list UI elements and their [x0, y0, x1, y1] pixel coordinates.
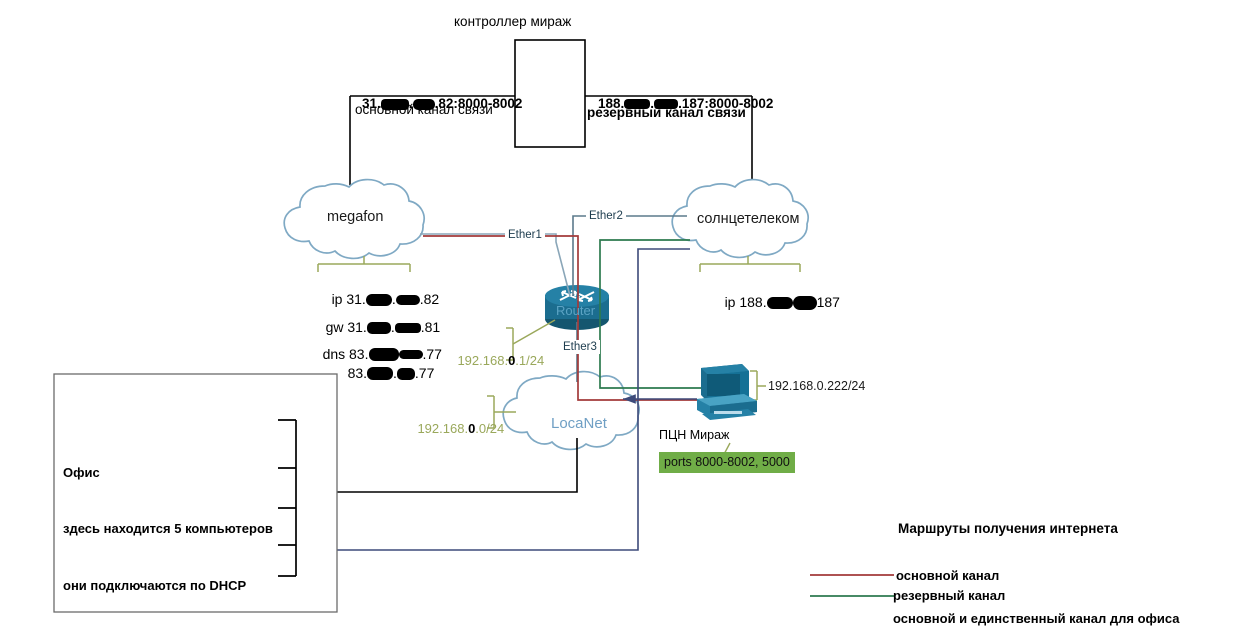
- office-line-2: здесь находится 5 компьютеров: [63, 520, 273, 539]
- router-lan-ip: 192.168.0.1/24: [443, 337, 544, 386]
- legend-swatches: [810, 565, 900, 615]
- legend-item-primary: основной канал: [896, 568, 999, 584]
- router-label: Router: [556, 303, 595, 319]
- backup-channel-label: резервный канал связи: [587, 105, 746, 122]
- megafon-dns2-line: 83...77: [332, 347, 434, 400]
- locanet-subnet-prefix: 192.168.: [417, 421, 468, 436]
- cloud-label-megafon: megafon: [327, 208, 383, 226]
- primary-channel-label: основной канал связи: [355, 102, 493, 119]
- locanet-subnet: 192.168.0.0/24: [403, 405, 504, 454]
- ether3-label: Ether3: [560, 340, 600, 354]
- office-line-1: Офис: [63, 464, 273, 483]
- router-lan-ip-suffix: .1/24: [515, 353, 544, 368]
- backup-route-green: [600, 240, 725, 388]
- ether1-link: [420, 234, 570, 296]
- ether1-label: Ether1: [505, 228, 545, 242]
- ether2-link: [573, 216, 687, 296]
- solncetelecom-detail-bracket: [700, 256, 800, 272]
- cloud-label-solncetelecom: солнцетелеком: [697, 210, 799, 228]
- controller-box: [515, 40, 585, 147]
- legend-item-office: основной и единственный канал для офиса: [893, 611, 1180, 627]
- router-lan-ip-prefix: 192.168.: [457, 353, 508, 368]
- office-line-3: они подключаются по DHCP: [63, 577, 273, 596]
- workstation-ip-bracket: [750, 371, 766, 400]
- locanet-subnet-suffix: .0/24: [475, 421, 504, 436]
- redaction-blob: [367, 367, 393, 380]
- workstation-name: ПЦН Мираж: [659, 428, 729, 444]
- workstation-ports-badge: ports 8000-8002, 5000: [659, 452, 795, 473]
- megafon-detail-bracket: [318, 256, 410, 272]
- redaction-blob: [397, 368, 415, 380]
- solncetelecom-ip-line: ip 188.187: [709, 276, 840, 329]
- legend-item-backup: резервный канал: [893, 588, 1005, 604]
- redaction-blob: [767, 297, 793, 309]
- ether2-label: Ether2: [586, 209, 626, 223]
- legend-title: Маршруты получения интернета: [898, 521, 1118, 538]
- workstation-ip: 192.168.0.222/24: [768, 379, 865, 395]
- cloud-label-locanet: LocaNet: [551, 415, 607, 434]
- controller-title: контроллер мираж: [454, 14, 571, 31]
- workstation-icon: [697, 364, 757, 420]
- network-diagram-canvas: контроллер мираж 31...82:8000-8002 основ…: [0, 0, 1234, 642]
- office-description: Офис здесь находится 5 компьютеров они п…: [63, 426, 273, 633]
- redaction-blob: [793, 296, 817, 310]
